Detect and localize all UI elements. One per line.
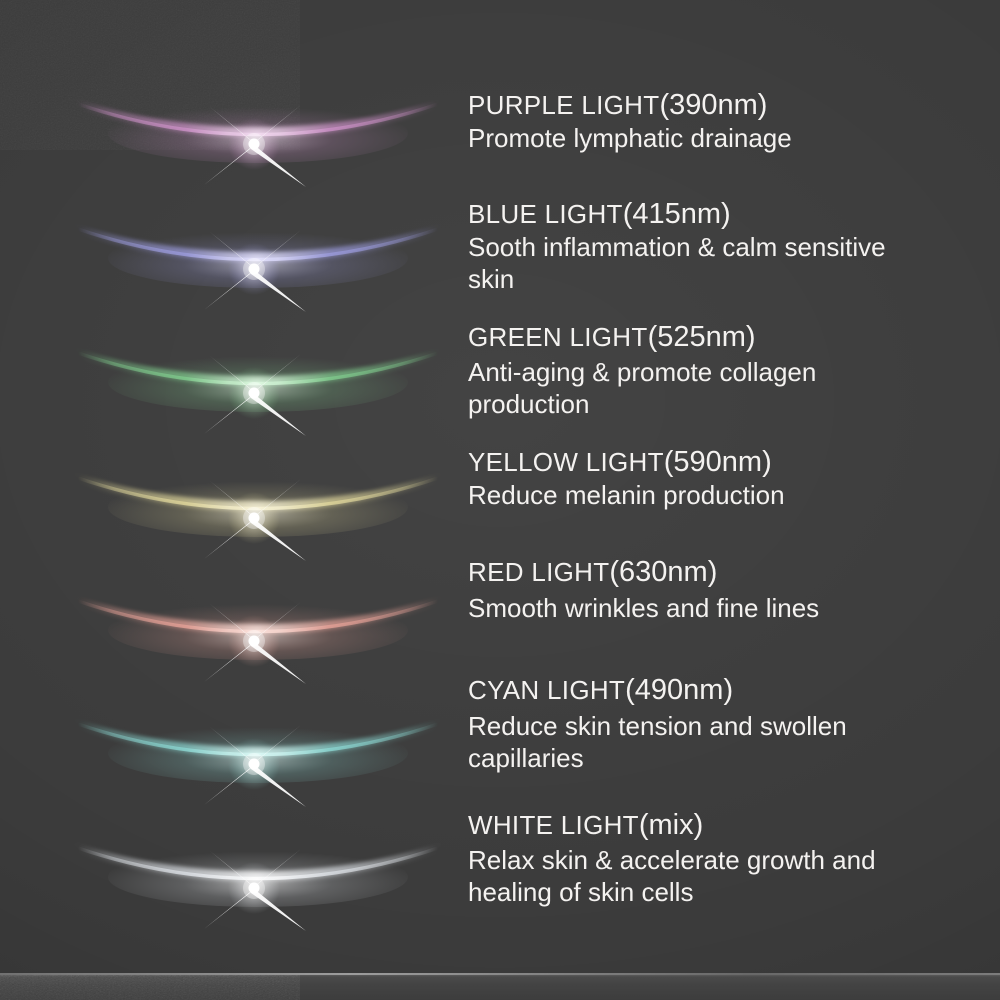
red-light-beam: [58, 568, 458, 692]
light-info-yellow-light: YELLOW LIGHT(590nm)Reduce melanin produc…: [468, 447, 968, 511]
light-info-green-light: GREEN LIGHT(525nm)Anti-aging & promote c…: [468, 322, 968, 420]
yellow-light-description: Reduce melanin production: [468, 479, 938, 511]
purple-light-beam: [58, 71, 458, 195]
red-light-title: RED LIGHT(630nm): [468, 557, 968, 587]
yellow-light-beam: [58, 445, 458, 569]
white-light-title: WHITE LIGHT(mix): [468, 810, 968, 840]
light-beam-graphic: [58, 568, 458, 692]
blue-light-title: BLUE LIGHT(415nm): [468, 199, 968, 229]
purple-light-title-text: PURPLE LIGHT: [468, 90, 659, 120]
light-beam-graphic: [58, 445, 458, 569]
red-light-wavelength: (630nm): [609, 556, 717, 588]
white-light-beam: [58, 815, 458, 939]
light-beam-graphic: [58, 815, 458, 939]
light-info-red-light: RED LIGHT(630nm)Smooth wrinkles and fine…: [468, 557, 968, 624]
yellow-light-title: YELLOW LIGHT(590nm): [468, 447, 968, 477]
purple-light-title: PURPLE LIGHT(390nm): [468, 90, 968, 120]
light-beam-graphic: [58, 691, 458, 815]
green-light-description: Anti-aging & promote collagen production: [468, 356, 938, 420]
light-info-white-light: WHITE LIGHT(mix)Relax skin & accelerate …: [468, 810, 968, 908]
white-light-wavelength: (mix): [639, 809, 703, 841]
green-light-beam: [58, 320, 458, 444]
cyan-light-title: CYAN LIGHT(490nm): [468, 675, 968, 705]
blue-light-wavelength: (415nm): [623, 198, 731, 230]
led-light-therapy-infographic: PURPLE LIGHT(390nm)Promote lymphatic dra…: [0, 0, 1000, 1000]
white-light-title-text: WHITE LIGHT: [468, 810, 639, 840]
light-beam-graphic: [58, 320, 458, 444]
yellow-light-title-text: YELLOW LIGHT: [468, 447, 664, 477]
light-info-purple-light: PURPLE LIGHT(390nm)Promote lymphatic dra…: [468, 90, 968, 154]
cyan-light-title-text: CYAN LIGHT: [468, 675, 625, 705]
red-light-description: Smooth wrinkles and fine lines: [468, 592, 938, 624]
yellow-light-wavelength: (590nm): [664, 446, 772, 478]
light-info-blue-light: BLUE LIGHT(415nm)Sooth inflammation & ca…: [468, 199, 968, 295]
cyan-light-wavelength: (490nm): [625, 674, 733, 706]
green-light-title-text: GREEN LIGHT: [468, 322, 648, 352]
green-light-wavelength: (525nm): [648, 321, 756, 353]
floor-texture: [0, 975, 300, 1000]
light-beam-graphic: [58, 71, 458, 195]
light-beam-graphic: [58, 196, 458, 320]
light-info-cyan-light: CYAN LIGHT(490nm)Reduce skin tension and…: [468, 675, 968, 774]
blue-light-description: Sooth inflammation & calm sensitive skin: [468, 231, 938, 295]
purple-light-wavelength: (390nm): [659, 89, 767, 121]
cyan-light-description: Reduce skin tension and swollen capillar…: [468, 710, 938, 774]
cyan-light-beam: [58, 691, 458, 815]
purple-light-description: Promote lymphatic drainage: [468, 122, 938, 154]
floor-band: [0, 975, 1000, 1000]
white-light-description: Relax skin & accelerate growth and heali…: [468, 844, 938, 908]
green-light-title: GREEN LIGHT(525nm): [468, 322, 968, 352]
blue-light-beam: [58, 196, 458, 320]
red-light-title-text: RED LIGHT: [468, 557, 609, 587]
blue-light-title-text: BLUE LIGHT: [468, 199, 623, 229]
